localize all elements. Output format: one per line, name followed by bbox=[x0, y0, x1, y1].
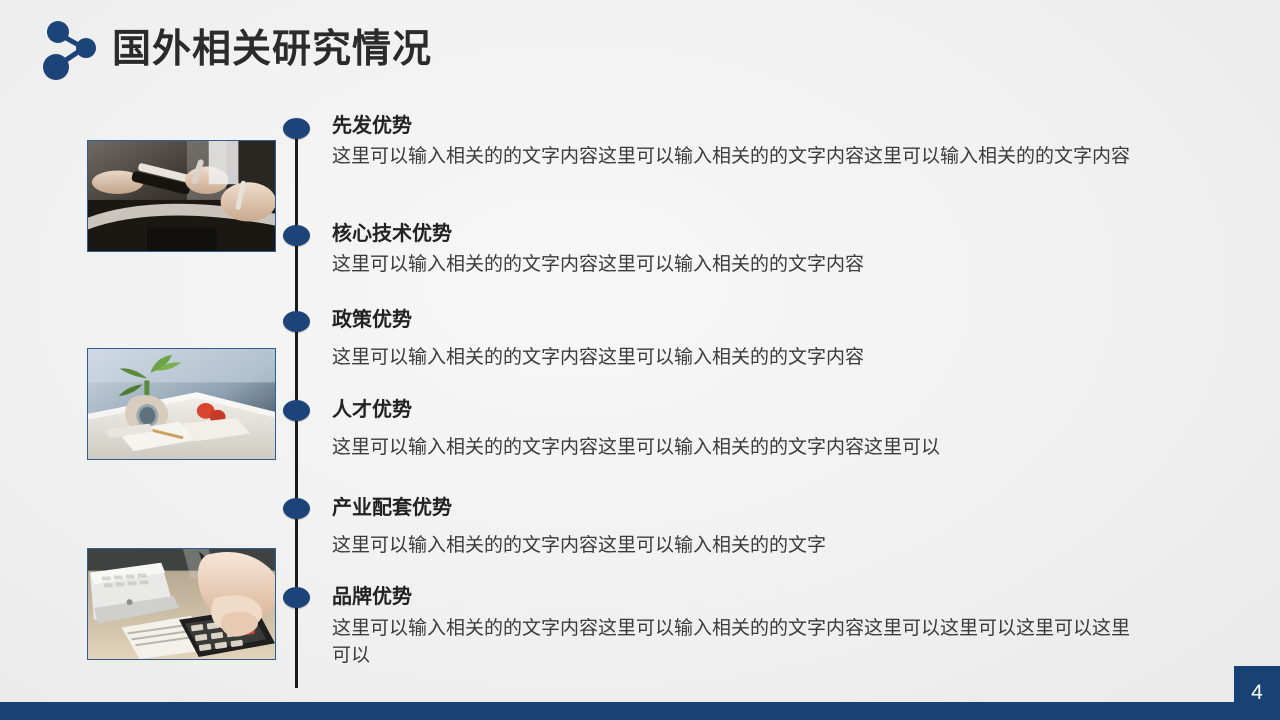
item-heading-6: 品牌优势 bbox=[332, 585, 1132, 610]
timeline-item-4[interactable]: 人才优势 这里可以输入相关的的文字内容这里可以输入相关的的文字内容这里可以 bbox=[332, 398, 1142, 462]
timeline-bullet-4[interactable] bbox=[283, 400, 310, 421]
timeline-item-3[interactable]: 政策优势 这里可以输入相关的的文字内容这里可以输入相关的的文字内容 bbox=[332, 308, 1122, 372]
item-heading-4: 人才优势 bbox=[332, 398, 1142, 423]
timeline-item-1[interactable]: 先发优势 这里可以输入相关的的文字内容这里可以输入相关的的文字内容这里可以输入相… bbox=[332, 114, 1132, 171]
business-meeting-photo[interactable] bbox=[87, 140, 276, 252]
item-body-2: 这里可以输入相关的的文字内容这里可以输入相关的的文字内容 bbox=[332, 252, 1122, 279]
item-heading-2: 核心技术优势 bbox=[332, 222, 1122, 247]
page-title: 国外相关研究情况 bbox=[112, 18, 432, 74]
timeline-bullet-3[interactable] bbox=[283, 311, 310, 332]
item-heading-5: 产业配套优势 bbox=[332, 496, 1122, 521]
desk-plant-notebook-photo[interactable] bbox=[87, 348, 276, 460]
item-body-1: 这里可以输入相关的的文字内容这里可以输入相关的的文字内容这里可以输入相关的的文字… bbox=[332, 144, 1132, 171]
item-heading-3: 政策优势 bbox=[332, 308, 1122, 333]
item-body-3: 这里可以输入相关的的文字内容这里可以输入相关的的文字内容 bbox=[332, 345, 1122, 372]
item-body-5: 这里可以输入相关的的文字内容这里可以输入相关的的文字 bbox=[332, 533, 1122, 560]
timeline-bullet-5[interactable] bbox=[283, 498, 310, 519]
timeline-item-2[interactable]: 核心技术优势 这里可以输入相关的的文字内容这里可以输入相关的的文字内容 bbox=[332, 222, 1122, 279]
timeline-item-5[interactable]: 产业配套优势 这里可以输入相关的的文字内容这里可以输入相关的的文字 bbox=[332, 496, 1122, 560]
timeline-item-6[interactable]: 品牌优势 这里可以输入相关的的文字内容这里可以输入相关的的文字内容这里可以这里可… bbox=[332, 585, 1132, 670]
timeline-bullet-2[interactable] bbox=[283, 225, 310, 246]
item-heading-1: 先发优势 bbox=[332, 114, 1132, 139]
item-body-6: 这里可以输入相关的的文字内容这里可以输入相关的的文字内容这里可以这里可以这里可以… bbox=[332, 616, 1132, 670]
page-number-badge: 4 bbox=[1234, 666, 1280, 720]
calculator-laptop-photo[interactable] bbox=[87, 548, 276, 660]
footer-bar bbox=[0, 702, 1280, 720]
item-body-4: 这里可以输入相关的的文字内容这里可以输入相关的的文字内容这里可以 bbox=[332, 435, 1142, 462]
presentation-slide: 国外相关研究情况 先发优势 这里可以输入相关的的文字内容这里可以输入相关的的文字… bbox=[0, 0, 1280, 720]
share-network-icon bbox=[34, 16, 106, 82]
timeline-bullet-1[interactable] bbox=[283, 118, 310, 139]
timeline-bullet-6[interactable] bbox=[283, 587, 310, 608]
slide-title-bar: 国外相关研究情况 bbox=[0, 0, 1280, 96]
